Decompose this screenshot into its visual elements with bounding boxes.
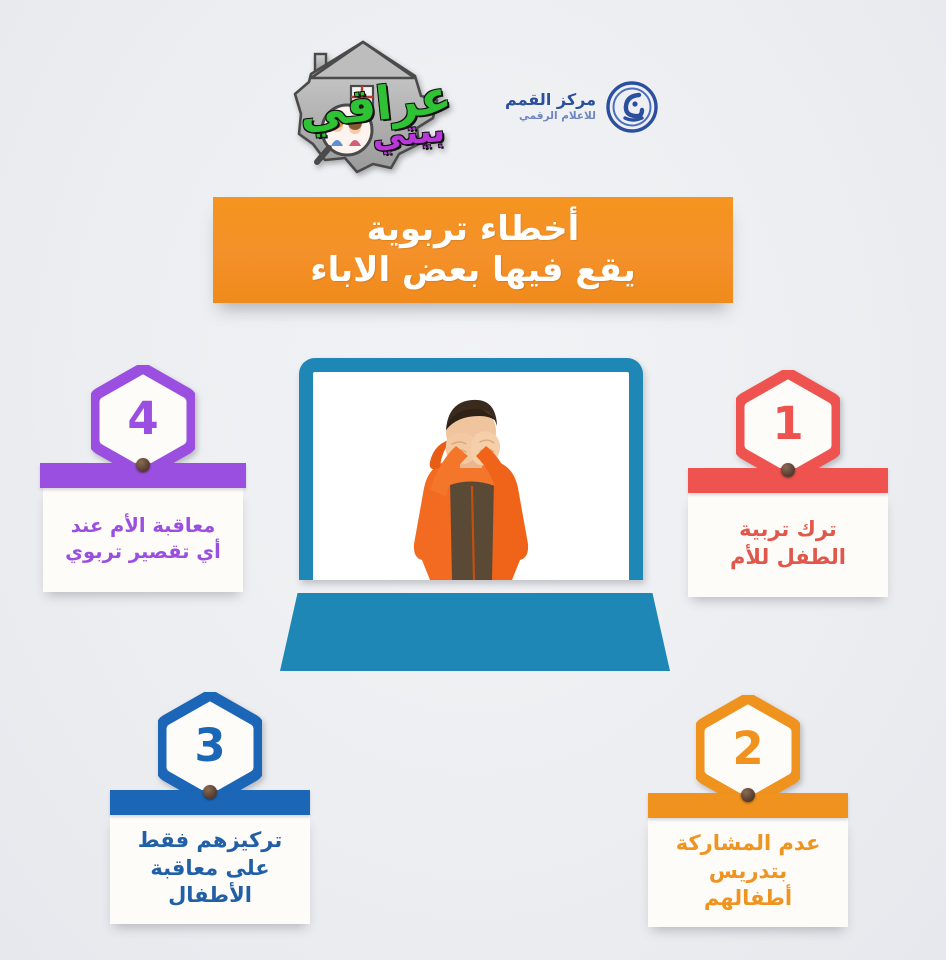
screw-icon <box>136 458 150 472</box>
partner-logo-qimam: مركز القمم للاعلام الرقمي <box>505 80 659 134</box>
card-4-line-1: معاقبة الأم عند <box>71 514 216 538</box>
card-body-1: ترك تربية الطفل للأم <box>688 493 888 597</box>
screw-icon <box>741 788 755 802</box>
card-1-line-1: ترك تربية <box>739 517 837 543</box>
iraq-map-house-icon <box>287 38 459 176</box>
card-body-3: تركيزهم فقط على معاقبة الأطفال <box>110 815 310 924</box>
card-top-bar-3 <box>110 790 310 815</box>
card-3-line-2: على معاقبة <box>150 856 269 882</box>
info-card-1[interactable]: 1 ترك تربية الطفل للأم <box>688 468 888 597</box>
card-body-2: عدم المشاركة بتدريس أطفالهم <box>648 818 848 927</box>
card-body-4: معاقبة الأم عند أي تقصير تربوي <box>43 488 243 592</box>
card-3-line-1: تركيزهم فقط <box>138 828 283 854</box>
info-card-4[interactable]: 4 معاقبة الأم عند أي تقصير تربوي <box>43 463 243 592</box>
title-line-2: يقع فيها بعض الاباء <box>310 252 636 289</box>
card-2-line-3: أطفالهم <box>704 886 792 912</box>
info-card-3[interactable]: 3 تركيزهم فقط على معاقبة الأطفال <box>110 790 310 924</box>
logo-row: عراقي بيتي مركز القمم للاعلام الرقمي <box>0 34 946 179</box>
partner-name: مركز القمم <box>505 91 596 109</box>
card-1-line-2: الطفل للأم <box>730 545 846 571</box>
laptop-illustration <box>280 358 680 678</box>
laptop-screen <box>313 372 629 580</box>
title-banner: أخطاء تربوية يقع فيها بعض الاباء <box>213 197 733 303</box>
card-4-line-2: أي تقصير تربوي <box>65 540 221 564</box>
card-2-line-1: عدم المشاركة <box>676 831 821 857</box>
screw-icon <box>203 785 217 799</box>
brand-logo-baiti-iraqi: عراقي بيتي <box>287 38 459 176</box>
title-line-1: أخطاء تربوية <box>367 211 580 248</box>
screw-icon <box>781 463 795 477</box>
infographic-stage: عراقي بيتي مركز القمم للاعلام الرقمي أ <box>0 0 946 960</box>
laptop-base <box>280 593 670 671</box>
laptop-lid <box>299 358 643 580</box>
info-card-2[interactable]: 2 عدم المشاركة بتدريس أطفالهم <box>648 793 848 927</box>
card-top-bar-2 <box>648 793 848 818</box>
card-2-line-2: بتدريس <box>709 859 787 885</box>
card-top-bar-1 <box>688 468 888 493</box>
card-3-line-3: الأطفال <box>168 883 252 909</box>
qimam-monogram-icon <box>605 80 659 134</box>
card-top-bar-4 <box>40 463 246 488</box>
partner-subtitle: للاعلام الرقمي <box>505 110 596 122</box>
frustrated-man-image <box>386 394 556 580</box>
